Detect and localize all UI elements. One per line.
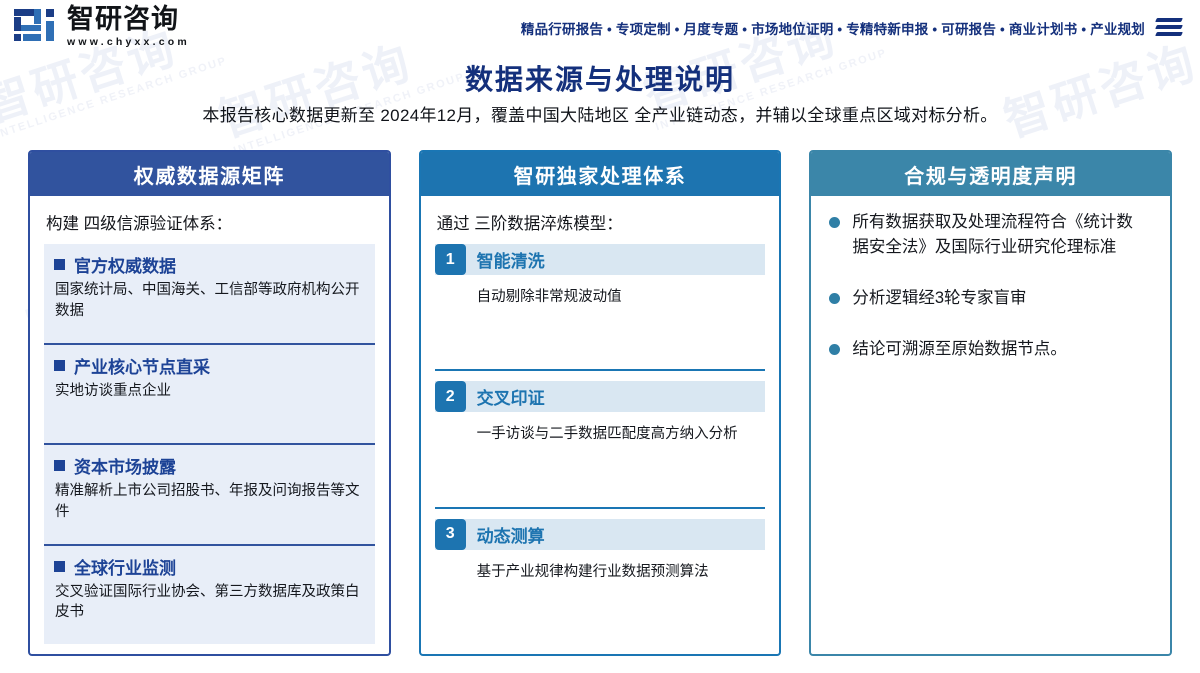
card-data-sources: 权威数据源矩阵 构建 四级信源验证体系： 官方权威数据 国家统计局、中国海关、工… <box>28 150 391 656</box>
card-lead: 通过 三阶数据淬炼模型： <box>437 210 764 234</box>
step-desc: 一手访谈与二手数据匹配度高方纳入分析 <box>435 424 766 445</box>
step-header: 2 交叉印证 <box>435 381 766 412</box>
square-bullet-icon <box>54 460 65 471</box>
page-title: 数据来源与处理说明 <box>0 58 1200 98</box>
square-bullet-icon <box>54 259 65 270</box>
step-header: 3 动态测算 <box>435 519 766 550</box>
bullet-text: 分析逻辑经3轮专家盲审 <box>852 286 1034 311</box>
list-item[interactable]: 分析逻辑经3轮专家盲审 <box>825 286 1156 311</box>
brand-name: 智研咨询 <box>67 5 190 33</box>
card-processing-system: 智研独家处理体系 通过 三阶数据淬炼模型： 1 智能清洗 自动剔除非常规波动值 … <box>419 150 782 656</box>
source-desc: 国家统计局、中国海关、工信部等政府机构公开数据 <box>52 280 367 321</box>
source-title-row: 资本市场披露 <box>52 453 367 478</box>
bullet-list: 所有数据获取及处理流程符合《统计数据安全法》及国际行业研究伦理标准 分析逻辑经3… <box>825 208 1156 644</box>
step-number-badge: 3 <box>435 519 466 550</box>
page-header: 智研咨询 www.chyxx.com 精品行研报告 • 专项定制 • 月度专题 … <box>0 0 1200 56</box>
source-title-row: 产业核心节点直采 <box>52 353 367 378</box>
card-lead: 构建 四级信源验证体系： <box>46 210 373 234</box>
brand-logo[interactable]: 智研咨询 www.chyxx.com <box>14 5 190 50</box>
card-body: 所有数据获取及处理流程符合《统计数据安全法》及国际行业研究伦理标准 分析逻辑经3… <box>811 196 1170 654</box>
step-list: 1 智能清洗 自动剔除非常规波动值 2 交叉印证 一手访谈与二手数据匹配度高方纳… <box>435 244 766 644</box>
list-item[interactable]: 3 动态测算 基于产业规律构建行业数据预测算法 <box>435 507 766 644</box>
source-desc: 实地访谈重点企业 <box>52 381 367 402</box>
list-item[interactable]: 所有数据获取及处理流程符合《统计数据安全法》及国际行业研究伦理标准 <box>825 210 1156 260</box>
step-desc: 自动剔除非常规波动值 <box>435 287 766 308</box>
bullet-text: 所有数据获取及处理流程符合《统计数据安全法》及国际行业研究伦理标准 <box>852 210 1156 260</box>
source-name: 资本市场披露 <box>74 453 176 478</box>
card-body: 通过 三阶数据淬炼模型： 1 智能清洗 自动剔除非常规波动值 2 交叉印证 <box>421 196 780 654</box>
source-desc: 交叉验证国际行业协会、第三方数据库及政策白皮书 <box>52 582 367 623</box>
list-item[interactable]: 结论可溯源至原始数据节点。 <box>825 337 1156 362</box>
card-title: 权威数据源矩阵 <box>30 152 389 196</box>
step-desc: 基于产业规律构建行业数据预测算法 <box>435 562 766 583</box>
square-bullet-icon <box>54 360 65 371</box>
source-list: 官方权威数据 国家统计局、中国海关、工信部等政府机构公开数据 产业核心节点直采 … <box>44 244 375 644</box>
list-item[interactable]: 资本市场披露 精准解析上市公司招股书、年报及问询报告等文件 <box>44 443 375 544</box>
layers-icon[interactable] <box>1156 17 1184 39</box>
round-bullet-icon <box>829 217 840 228</box>
source-title-row: 全球行业监测 <box>52 554 367 579</box>
card-body: 构建 四级信源验证体系： 官方权威数据 国家统计局、中国海关、工信部等政府机构公… <box>30 196 389 654</box>
step-number-badge: 2 <box>435 381 466 412</box>
cards-row: 权威数据源矩阵 构建 四级信源验证体系： 官方权威数据 国家统计局、中国海关、工… <box>28 150 1172 656</box>
list-item[interactable]: 官方权威数据 国家统计局、中国海关、工信部等政府机构公开数据 <box>44 244 375 343</box>
step-name: 交叉印证 <box>466 381 545 412</box>
source-name: 产业核心节点直采 <box>74 353 210 378</box>
source-title-row: 官方权威数据 <box>52 252 367 277</box>
list-item[interactable]: 1 智能清洗 自动剔除非常规波动值 <box>435 244 766 369</box>
step-header: 1 智能清洗 <box>435 244 766 275</box>
source-name: 官方权威数据 <box>74 252 176 277</box>
step-name: 动态测算 <box>466 519 545 550</box>
step-name: 智能清洗 <box>466 244 545 275</box>
round-bullet-icon <box>829 344 840 355</box>
card-compliance-statement: 合规与透明度声明 所有数据获取及处理流程符合《统计数据安全法》及国际行业研究伦理… <box>809 150 1172 656</box>
card-title: 智研独家处理体系 <box>421 152 780 196</box>
square-bullet-icon <box>54 561 65 572</box>
card-title: 合规与透明度声明 <box>811 152 1170 196</box>
brand-url: www.chyxx.com <box>67 35 190 51</box>
list-item[interactable]: 产业核心节点直采 实地访谈重点企业 <box>44 343 375 444</box>
step-number-badge: 1 <box>435 244 466 275</box>
source-desc: 精准解析上市公司招股书、年报及问询报告等文件 <box>52 481 367 522</box>
list-item[interactable]: 2 交叉印证 一手访谈与二手数据匹配度高方纳入分析 <box>435 369 766 506</box>
source-name: 全球行业监测 <box>74 554 176 579</box>
slide-page: 智研咨询 INTELLIGENCE RESEARCH GROUP 智研咨询 IN… <box>0 0 1200 673</box>
bullet-text: 结论可溯源至原始数据节点。 <box>852 337 1075 362</box>
zhiyan-logo-icon <box>14 9 58 47</box>
page-subtitle: 本报告核心数据更新至 2024年12月，覆盖中国大陆地区 全产业链动态，并辅以全… <box>0 101 1200 126</box>
round-bullet-icon <box>829 293 840 304</box>
header-tagline: 精品行研报告 • 专项定制 • 月度专题 • 市场地位证明 • 专精特新申报 •… <box>521 18 1145 38</box>
list-item[interactable]: 全球行业监测 交叉验证国际行业协会、第三方数据库及政策白皮书 <box>44 544 375 645</box>
